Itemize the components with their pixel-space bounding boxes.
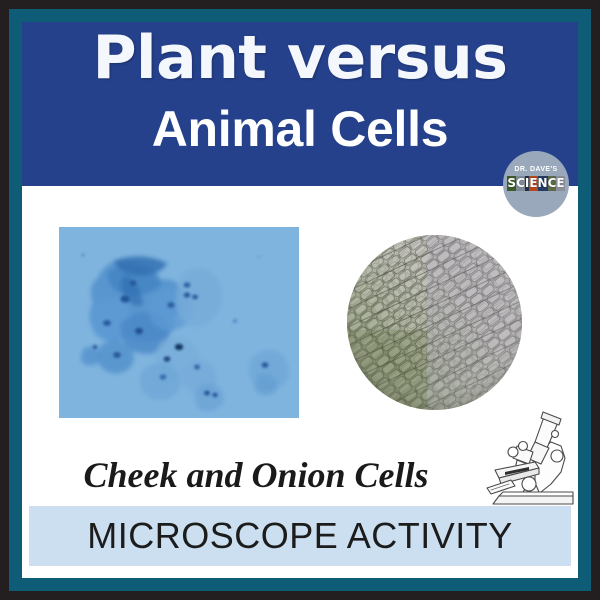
poster-teal-frame: Plant versus Animal Cells DR. DAVE'S S C… <box>9 9 591 591</box>
bottom-banner: MICROSCOPE ACTIVITY <box>29 506 571 566</box>
title-line-2: Animal Cells <box>22 104 578 154</box>
poster-card: Plant versus Animal Cells DR. DAVE'S S C… <box>22 22 578 578</box>
brand-letter: C <box>516 176 525 191</box>
content-area: Cheek and Onion Cells <box>22 186 578 578</box>
brand-letter: N <box>538 176 548 191</box>
cheek-cells-micrograph <box>59 227 299 418</box>
brand-letter: E <box>529 176 537 191</box>
brand-letter: S <box>507 176 516 191</box>
brand-logo-badge: DR. DAVE'S S C I E N C E <box>503 151 569 217</box>
onion-cells-image <box>347 235 522 410</box>
header-band: Plant versus Animal Cells <box>22 22 578 186</box>
microscope-icon <box>477 404 578 516</box>
microscope-illustration <box>477 404 578 516</box>
cheek-cells-image <box>59 227 299 418</box>
onion-cells-micrograph <box>347 235 522 410</box>
caption-text: Cheek and Onion Cells <box>46 454 466 496</box>
brand-letter: E <box>556 176 564 191</box>
brand-science-word: S C I E N C E <box>509 176 563 191</box>
brand-top-text: DR. DAVE'S <box>503 166 569 173</box>
poster-root: Plant versus Animal Cells DR. DAVE'S S C… <box>0 0 600 600</box>
banner-text: MICROSCOPE ACTIVITY <box>87 515 513 557</box>
title-line-1: Plant versus <box>22 28 578 88</box>
